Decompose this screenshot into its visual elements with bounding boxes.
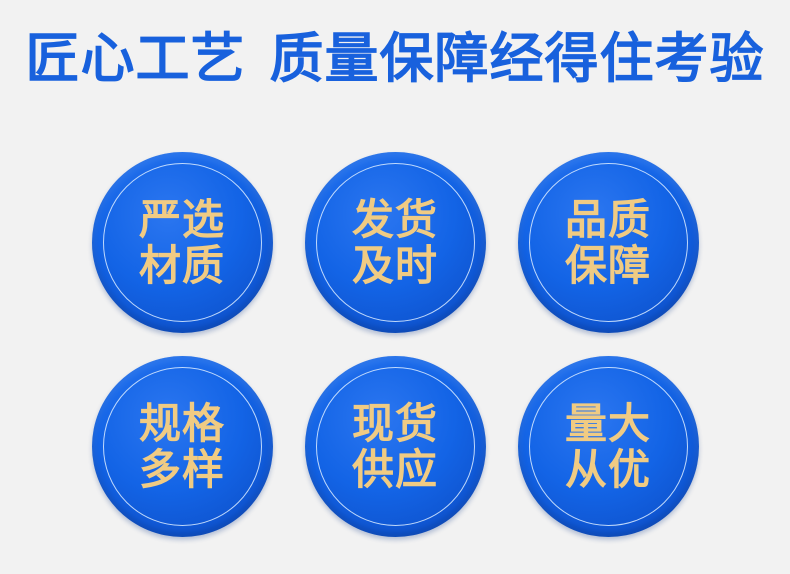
feature-badge-line-1: 严选 — [139, 197, 225, 243]
feature-badge-bulk-discount: 量大 从优 — [518, 356, 699, 537]
feature-badge-row-1: 严选 材质 发货 及时 品质 保障 — [0, 152, 790, 333]
feature-badge-row-2: 规格 多样 现货 供应 量大 从优 — [0, 356, 790, 537]
feature-badge-quality-guarantee: 品质 保障 — [518, 152, 699, 333]
feature-badge-line-2: 供应 — [352, 447, 438, 493]
feature-badge-grid: 严选 材质 发货 及时 品质 保障 规格 — [0, 152, 790, 537]
feature-badge-label: 严选 材质 — [139, 197, 225, 289]
feature-badge-label: 发货 及时 — [352, 197, 438, 289]
feature-badge-in-stock-supply: 现货 供应 — [305, 356, 486, 537]
feature-badge-line-1: 发货 — [352, 197, 438, 243]
feature-badge-line-2: 多样 — [139, 447, 225, 493]
feature-badge-label: 品质 保障 — [565, 197, 651, 289]
feature-badge-label: 规格 多样 — [139, 401, 225, 493]
feature-badge-line-1: 量大 — [565, 401, 651, 447]
feature-badge-various-specs: 规格 多样 — [92, 356, 273, 537]
feature-badge-line-2: 及时 — [352, 243, 438, 289]
headline-part-1: 匠心工艺 — [26, 29, 246, 89]
feature-badge-line-1: 现货 — [352, 401, 438, 447]
feature-badge-label: 量大 从优 — [565, 401, 651, 493]
feature-badge-strict-material: 严选 材质 — [92, 152, 273, 333]
feature-badge-line-2: 材质 — [139, 243, 225, 289]
feature-badge-line-2: 保障 — [565, 243, 651, 289]
promo-banner: 匠心工艺质量保障经得住考验 严选 材质 发货 及时 品质 保障 — [0, 0, 790, 574]
page-title: 匠心工艺质量保障经得住考验 — [0, 28, 790, 90]
feature-badge-line-1: 规格 — [139, 401, 225, 447]
feature-badge-line-2: 从优 — [565, 447, 651, 493]
feature-badge-label: 现货 供应 — [352, 401, 438, 493]
feature-badge-line-1: 品质 — [565, 197, 651, 243]
feature-badge-fast-shipping: 发货 及时 — [305, 152, 486, 333]
headline-part-2: 质量保障经得住考验 — [270, 29, 765, 89]
